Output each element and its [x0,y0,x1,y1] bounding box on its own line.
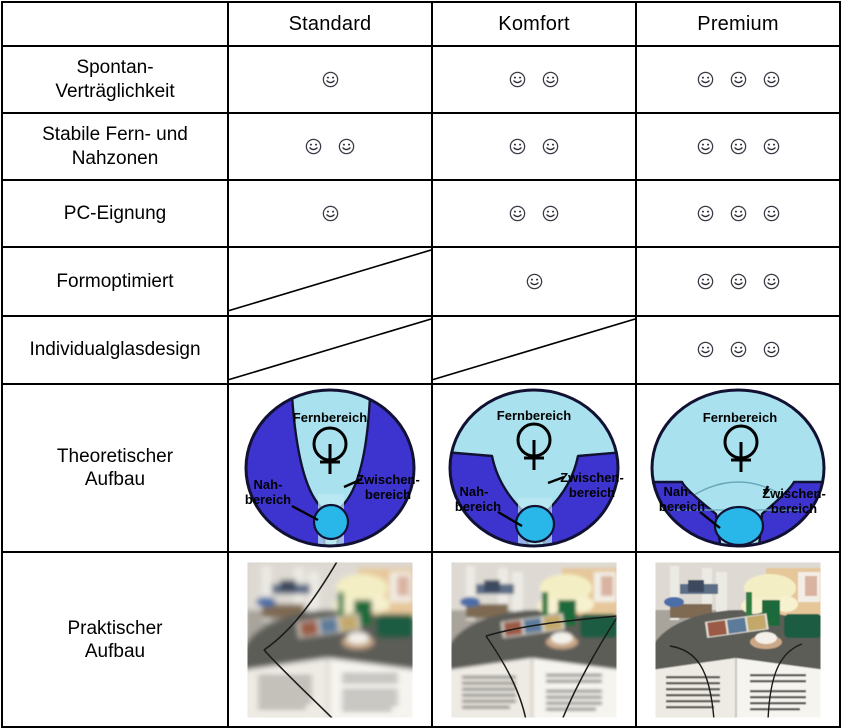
smiley-group [229,181,431,246]
label-fernbereich: Fernbereich [497,408,571,423]
cell-lens-diagram-standard: Fernbereich Nah- bereich Zwischen- berei… [228,384,432,552]
table-header-row: Standard Komfort Premium [2,2,840,46]
row-label-text: PraktischerAufbau [3,617,227,663]
cell-formoptimiert-standard [228,247,432,316]
smiley-face-icon [697,341,714,358]
table-row: Individualglasdesign [2,316,840,385]
label-fernbereich: Fernbereich [293,410,367,425]
smiley-face-icon [730,71,747,88]
column-header-premium: Premium [636,2,840,46]
cell-stabile-premium [636,113,840,180]
label-fernbereich: Fernbereich [703,410,777,425]
smiley-face-icon [730,273,747,290]
cell-lens-diagram-premium: Fernbereich Nah- bereich Zwischen- berei… [636,384,840,552]
smiley-face-icon [322,71,339,88]
cell-pc-standard [228,180,432,247]
table-row: Stabile Fern- undNahzonen [2,113,840,180]
smiley-face-icon [305,138,322,155]
smiley-face-icon [730,205,747,222]
photo-standard [229,553,431,726]
smiley-face-icon [697,205,714,222]
lens-diagram-standard: Fernbereich Nah- bereich Zwischen- berei… [229,385,431,551]
smiley-group [637,317,839,384]
label-nahbereich-line2: bereich [245,492,291,507]
cell-spontan-premium [636,46,840,113]
column-header-standard: Standard [228,2,432,46]
label-zwischenbereich-line2: bereich [569,485,615,500]
smiley-face-icon [509,71,526,88]
smiley-face-icon [763,71,780,88]
cell-lens-diagram-komfort: Fernbereich Nah- bereich Zwischen- berei… [432,384,636,552]
smiley-face-icon [697,138,714,155]
cell-spontan-komfort [432,46,636,113]
smiley-face-icon [730,205,747,222]
smiley-face-icon [542,138,559,155]
cell-photo-premium [636,552,840,727]
smiley-face-icon [509,205,526,222]
lens-zone-diagram-icon: Fernbereich Nah- bereich Zwischen- berei… [434,386,634,550]
diagonal-strike-icon [229,248,431,315]
label-nahbereich-line1: Nah- [664,484,693,499]
row-label-spontan-vertraeglichkeit: Spontan-Verträglichkeit [2,46,228,113]
label-zwischenbereich-line1: Zwischen- [560,470,624,485]
diagonal-strike-icon [229,317,431,384]
diagonal-strike-icon [433,317,635,384]
smiley-group [433,248,635,315]
smiley-group [637,114,839,179]
lens-diagram-komfort: Fernbereich Nah- bereich Zwischen- berei… [433,385,635,551]
row-label-individualglasdesign: Individualglasdesign [2,316,228,385]
lens-diagram-premium: Fernbereich Nah- bereich Zwischen- berei… [637,385,839,551]
smiley-face-icon [730,71,747,88]
row-label-stabile-fern-und-nahzonen: Stabile Fern- undNahzonen [2,113,228,180]
smiley-face-icon [338,138,355,155]
theoretical-structure-row: TheoretischerAufbau [2,384,840,552]
smiley-group [637,181,839,246]
label-nahbereich-line2: bereich [455,499,501,514]
label-nahbereich-line2: bereich [659,499,705,514]
smiley-face-icon [509,71,526,88]
smiley-face-icon [697,341,714,358]
table-body: Standard Komfort Premium Spontan-Verträg… [2,2,840,727]
smiley-face-icon [763,138,780,155]
smiley-face-icon [763,273,780,290]
smiley-face-icon [763,341,780,358]
row-label-text: PC-Eignung [3,200,227,227]
smiley-group [229,47,431,112]
cell-spontan-standard [228,46,432,113]
cell-stabile-standard [228,113,432,180]
smiley-group [637,248,839,315]
smiley-face-icon [763,71,780,88]
smiley-face-icon [509,138,526,155]
row-label-text: Individualglasdesign [3,336,227,363]
smiley-group [433,181,635,246]
smiley-face-icon [763,205,780,222]
label-zwischenbereich-line2: bereich [365,487,411,502]
lens-zone-diagram-icon: Fernbereich Nah- bereich Zwischen- berei… [638,386,838,550]
smiley-group [433,47,635,112]
smiley-face-icon [509,138,526,155]
cell-formoptimiert-komfort [432,247,636,316]
smiley-face-icon [763,205,780,222]
smiley-face-icon [542,205,559,222]
column-header-komfort-label: Komfort [433,13,635,35]
showroom-photo-premium [650,558,826,722]
smiley-face-icon [526,273,543,290]
smiley-face-icon [697,273,714,290]
row-label-theoretischer-aufbau: TheoretischerAufbau [2,384,228,552]
smiley-face-icon [542,138,559,155]
cell-photo-komfort [432,552,636,727]
smiley-group [433,114,635,179]
smiley-face-icon [322,71,339,88]
smiley-face-icon [763,273,780,290]
row-label-text: Spontan-Verträglichkeit [3,54,227,104]
smiley-group [229,114,431,179]
cell-individualglasdesign-standard [228,316,432,385]
column-header-komfort: Komfort [432,2,636,46]
cell-photo-standard [228,552,432,727]
smiley-face-icon [730,138,747,155]
smiley-face-icon [763,341,780,358]
row-label-text: Formoptimiert [3,268,227,295]
label-zwischenbereich-line2: bereich [771,501,817,516]
smiley-group [637,47,839,112]
smiley-face-icon [509,205,526,222]
smiley-face-icon [542,71,559,88]
lens-zone-diagram-icon: Fernbereich Nah- bereich Zwischen- berei… [230,386,430,550]
smiley-face-icon [697,71,714,88]
table-row: Formoptimiert [2,247,840,316]
smiley-face-icon [338,138,355,155]
smiley-face-icon [730,138,747,155]
column-header-standard-label: Standard [229,13,431,35]
smiley-face-icon [305,138,322,155]
row-label-pc-eignung: PC-Eignung [2,180,228,247]
cell-formoptimiert-premium [636,247,840,316]
cell-pc-komfort [432,180,636,247]
smiley-face-icon [730,341,747,358]
photo-komfort [433,553,635,726]
practical-structure-row: PraktischerAufbau [2,552,840,727]
smiley-face-icon [730,341,747,358]
smiley-face-icon [322,205,339,222]
label-zwischenbereich-line1: Zwischen- [356,472,420,487]
cell-pc-premium [636,180,840,247]
label-nahbereich-line1: Nah- [254,477,283,492]
row-label-text: TheoretischerAufbau [3,445,227,491]
label-nahbereich-line1: Nah- [460,484,489,499]
table-row: Spontan-Verträglichkeit [2,46,840,113]
cell-stabile-komfort [432,113,636,180]
smiley-face-icon [697,71,714,88]
header-corner-cell [2,2,228,46]
label-zwischenbereich-line1: Zwischen- [762,486,826,501]
row-label-praktischer-aufbau: PraktischerAufbau [2,552,228,727]
comparison-table-page: Standard Komfort Premium Spontan-Verträg… [0,0,842,728]
smiley-face-icon [697,205,714,222]
smiley-face-icon [763,138,780,155]
smiley-face-icon [697,273,714,290]
photo-premium [637,553,839,726]
row-label-formoptimiert: Formoptimiert [2,247,228,316]
smiley-face-icon [542,205,559,222]
product-comparison-table: Standard Komfort Premium Spontan-Verträg… [1,1,841,728]
smiley-face-icon [322,205,339,222]
showroom-photo-standard [242,558,418,722]
showroom-photo-komfort [446,558,622,722]
table-row: PC-Eignung [2,180,840,247]
smiley-face-icon [697,138,714,155]
cell-individualglasdesign-premium [636,316,840,385]
column-header-premium-label: Premium [637,13,839,35]
smiley-face-icon [730,273,747,290]
cell-individualglasdesign-komfort [432,316,636,385]
smiley-face-icon [526,273,543,290]
smiley-face-icon [542,71,559,88]
row-label-text: Stabile Fern- undNahzonen [3,121,227,171]
